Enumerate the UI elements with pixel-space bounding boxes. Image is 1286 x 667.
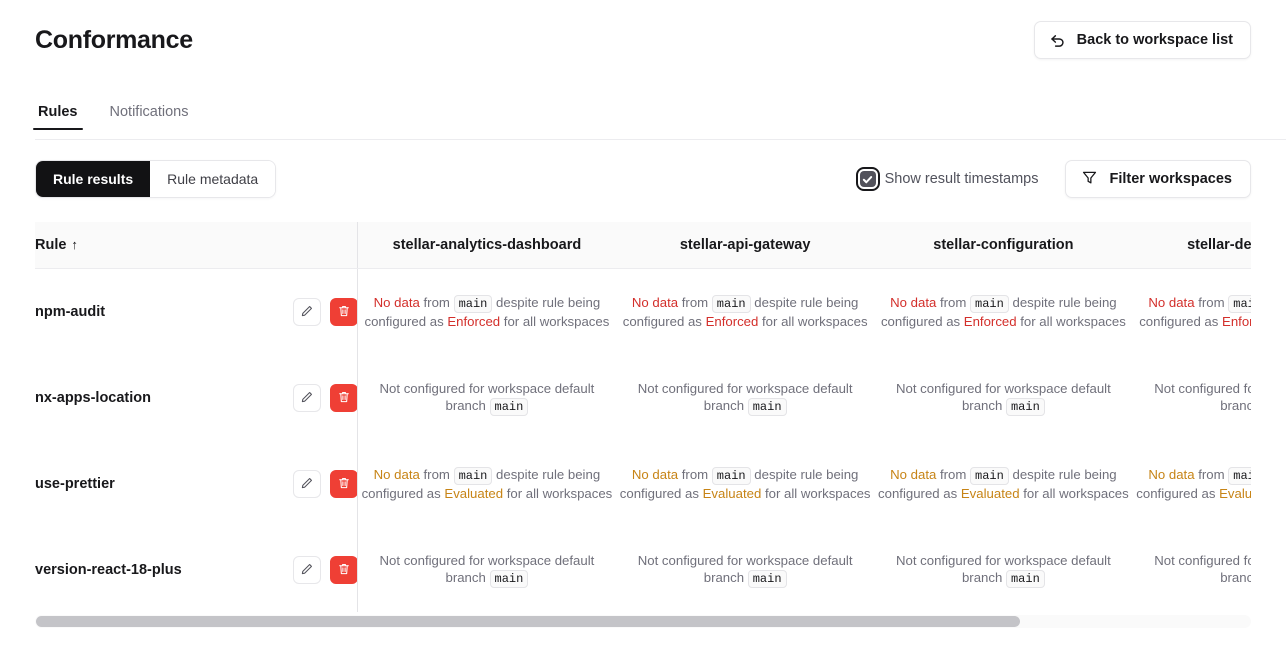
message-text: Not configured for workspace default bra… bbox=[896, 381, 1111, 414]
no-data-label: No data bbox=[374, 467, 420, 482]
branch-badge: main bbox=[490, 398, 529, 416]
column-header-rule[interactable]: Rule↑ bbox=[35, 222, 358, 269]
result-cell[interactable]: No data from main despite rule being con… bbox=[1133, 441, 1252, 527]
rule-row-actions bbox=[293, 470, 358, 498]
result-cell[interactable]: No data from main despite rule being con… bbox=[616, 269, 874, 355]
segment-rule-results[interactable]: Rule results bbox=[36, 161, 150, 197]
trash-icon bbox=[337, 476, 351, 493]
message-text: for all workspaces bbox=[1020, 486, 1129, 501]
result-cell[interactable]: No data from main despite rule being con… bbox=[1133, 269, 1252, 355]
result-cell[interactable]: No data from main despite rule being con… bbox=[358, 269, 616, 355]
table-header-row: Rule↑ stellar-analytics-dashboard stella… bbox=[35, 222, 1251, 269]
table-head: Rule↑ stellar-analytics-dashboard stella… bbox=[35, 222, 1251, 269]
rule-mode-label: Enforced bbox=[964, 314, 1017, 329]
branch-badge: main bbox=[712, 467, 751, 485]
page-header: Conformance Back to workspace list bbox=[0, 0, 1286, 80]
result-cell[interactable]: Not configured for workspace default bra… bbox=[1133, 355, 1252, 441]
not-configured-message: Not configured for workspace default bra… bbox=[380, 381, 595, 414]
message-text: Not configured for workspace default bra… bbox=[638, 381, 853, 414]
page-title: Conformance bbox=[35, 26, 193, 55]
main-tabs: Rules Notifications bbox=[35, 104, 1286, 140]
message-text: from bbox=[936, 295, 970, 310]
not-configured-message: Not configured for workspace default bra… bbox=[896, 381, 1111, 414]
rule-name-label: npm-audit bbox=[35, 304, 105, 320]
no-data-message: No data from main despite rule being con… bbox=[1136, 467, 1251, 502]
not-configured-message: Not configured for workspace default bra… bbox=[380, 553, 595, 586]
conformance-table-scroll-area[interactable]: Rule↑ stellar-analytics-dashboard stella… bbox=[35, 222, 1251, 612]
segment-rule-metadata[interactable]: Rule metadata bbox=[150, 161, 275, 197]
delete-rule-button[interactable] bbox=[330, 298, 358, 326]
result-cell[interactable]: Not configured for workspace default bra… bbox=[874, 355, 1132, 441]
rule-name-cell: nx-apps-location bbox=[35, 355, 358, 441]
sort-ascending-icon[interactable]: ↑ bbox=[71, 237, 78, 252]
branch-badge: main bbox=[712, 295, 751, 313]
rule-name-label: use-prettier bbox=[35, 476, 115, 492]
result-cell[interactable]: Not configured for workspace default bra… bbox=[616, 355, 874, 441]
edit-rule-button[interactable] bbox=[293, 384, 321, 412]
trash-icon bbox=[337, 390, 351, 407]
result-cell[interactable]: Not configured for workspace default bra… bbox=[616, 527, 874, 612]
tab-notifications[interactable]: Notifications bbox=[107, 104, 192, 130]
rule-name-label: version-react-18-plus bbox=[35, 562, 182, 578]
rule-mode-label: Evaluated bbox=[703, 486, 762, 501]
rule-cell-inner: npm-audit bbox=[35, 298, 358, 326]
table-row: npm-auditNo data from main despite rule … bbox=[35, 269, 1251, 355]
pencil-icon bbox=[300, 476, 314, 493]
not-configured-message: Not configured for workspace default bra… bbox=[638, 381, 853, 414]
result-cell[interactable]: No data from main despite rule being con… bbox=[874, 269, 1132, 355]
trash-icon bbox=[337, 304, 351, 321]
not-configured-message: Not configured for workspace default bra… bbox=[1154, 553, 1251, 586]
funnel-icon bbox=[1081, 169, 1098, 190]
message-text: from bbox=[678, 295, 712, 310]
no-data-label: No data bbox=[632, 295, 678, 310]
edit-rule-button[interactable] bbox=[293, 470, 321, 498]
filter-workspaces-label: Filter workspaces bbox=[1110, 171, 1233, 187]
show-result-timestamps-label: Show result timestamps bbox=[885, 171, 1039, 187]
rule-mode-label: Enforced bbox=[1222, 314, 1251, 329]
column-header-workspace-2[interactable]: stellar-configuration bbox=[874, 222, 1132, 269]
table-row: use-prettierNo data from main despite ru… bbox=[35, 441, 1251, 527]
message-text: for all workspaces bbox=[758, 314, 867, 329]
rule-name-label: nx-apps-location bbox=[35, 390, 151, 406]
pencil-icon bbox=[300, 562, 314, 579]
not-configured-message: Not configured for workspace default bra… bbox=[1154, 381, 1251, 414]
message-text: Not configured for workspace default bra… bbox=[380, 553, 595, 586]
filter-workspaces-button[interactable]: Filter workspaces bbox=[1065, 160, 1252, 198]
rule-mode-label: Enforced bbox=[706, 314, 759, 329]
message-text: for all workspaces bbox=[500, 314, 609, 329]
no-data-message: No data from main despite rule being con… bbox=[881, 295, 1126, 330]
no-data-label: No data bbox=[890, 295, 936, 310]
checkbox-checked-icon[interactable] bbox=[860, 171, 876, 187]
column-header-workspace-1[interactable]: stellar-api-gateway bbox=[616, 222, 874, 269]
show-result-timestamps-checkbox[interactable]: Show result timestamps bbox=[860, 171, 1039, 187]
table-row: nx-apps-locationNot configured for works… bbox=[35, 355, 1251, 441]
message-text: from bbox=[1195, 295, 1229, 310]
branch-badge: main bbox=[490, 570, 529, 588]
no-data-message: No data from main despite rule being con… bbox=[878, 467, 1129, 502]
not-configured-message: Not configured for workspace default bra… bbox=[638, 553, 853, 586]
branch-badge: main bbox=[1228, 295, 1251, 313]
table-body: npm-auditNo data from main despite rule … bbox=[35, 269, 1251, 612]
result-cell[interactable]: No data from main despite rule being con… bbox=[616, 441, 874, 527]
message-text: from bbox=[678, 467, 712, 482]
view-mode-segmented-control: Rule results Rule metadata bbox=[35, 160, 276, 198]
no-data-label: No data bbox=[1148, 295, 1194, 310]
rule-row-actions bbox=[293, 384, 358, 412]
no-data-message: No data from main despite rule being con… bbox=[362, 467, 613, 502]
message-text: for all workspaces bbox=[503, 486, 612, 501]
rule-name-cell: version-react-18-plus bbox=[35, 527, 358, 612]
pencil-icon bbox=[300, 304, 314, 321]
result-cell[interactable]: Not configured for workspace default bra… bbox=[358, 527, 616, 612]
rule-mode-label: Evaluated bbox=[1219, 486, 1251, 501]
no-data-label: No data bbox=[374, 295, 420, 310]
message-text: from bbox=[420, 295, 454, 310]
edit-rule-button[interactable] bbox=[293, 556, 321, 584]
branch-badge: main bbox=[970, 295, 1009, 313]
no-data-label: No data bbox=[1148, 467, 1194, 482]
column-header-workspace-3[interactable]: stellar-design-system bbox=[1133, 222, 1252, 269]
message-text: Not configured for workspace default bra… bbox=[1154, 553, 1251, 586]
delete-rule-button[interactable] bbox=[330, 384, 358, 412]
no-data-message: No data from main despite rule being con… bbox=[620, 467, 871, 502]
result-cell[interactable]: Not configured for workspace default bra… bbox=[1133, 527, 1252, 612]
conformance-page: Conformance Back to workspace list Rules… bbox=[0, 0, 1286, 667]
message-text: for all workspaces bbox=[1017, 314, 1126, 329]
rule-row-actions bbox=[293, 556, 358, 584]
tab-rules[interactable]: Rules bbox=[35, 104, 81, 130]
back-to-workspace-list-button[interactable]: Back to workspace list bbox=[1034, 21, 1251, 59]
no-data-label: No data bbox=[632, 467, 678, 482]
table-toolbar: Rule results Rule metadata Show result t… bbox=[35, 160, 1251, 198]
delete-rule-button[interactable] bbox=[330, 470, 358, 498]
rule-mode-label: Evaluated bbox=[961, 486, 1020, 501]
message-text: Not configured for workspace default bra… bbox=[896, 553, 1111, 586]
table-row: version-react-18-plusNot configured for … bbox=[35, 527, 1251, 612]
branch-badge: main bbox=[1006, 398, 1045, 416]
rule-mode-label: Evaluated bbox=[444, 486, 503, 501]
rule-row-actions bbox=[293, 298, 358, 326]
no-data-message: No data from main despite rule being con… bbox=[364, 295, 609, 330]
message-text: Not configured for workspace default bra… bbox=[380, 381, 595, 414]
rule-name-cell: use-prettier bbox=[35, 441, 358, 527]
message-text: from bbox=[936, 467, 970, 482]
result-cell[interactable]: No data from main despite rule being con… bbox=[358, 441, 616, 527]
edit-rule-button[interactable] bbox=[293, 298, 321, 326]
rule-name-cell: npm-audit bbox=[35, 269, 358, 355]
column-header-rule-label: Rule bbox=[35, 237, 66, 253]
rule-mode-label: Enforced bbox=[447, 314, 500, 329]
conformance-table: Rule↑ stellar-analytics-dashboard stella… bbox=[35, 222, 1251, 612]
message-text: Not configured for workspace default bra… bbox=[1154, 381, 1251, 414]
no-data-label: No data bbox=[890, 467, 936, 482]
result-cell[interactable]: Not configured for workspace default bra… bbox=[358, 355, 616, 441]
arrow-uturn-left-icon bbox=[1049, 32, 1066, 49]
pencil-icon bbox=[300, 390, 314, 407]
branch-badge: main bbox=[748, 570, 787, 588]
branch-badge: main bbox=[1228, 467, 1251, 485]
message-text: Not configured for workspace default bra… bbox=[638, 553, 853, 586]
horizontal-scrollbar-thumb[interactable] bbox=[36, 616, 1020, 627]
message-text: for all workspaces bbox=[761, 486, 870, 501]
no-data-message: No data from main despite rule being con… bbox=[623, 295, 868, 330]
column-header-workspace-0[interactable]: stellar-analytics-dashboard bbox=[358, 222, 616, 269]
message-text: from bbox=[1195, 467, 1229, 482]
toolbar-right-group: Show result timestamps Filter workspaces bbox=[860, 160, 1251, 198]
branch-badge: main bbox=[454, 467, 493, 485]
not-configured-message: Not configured for workspace default bra… bbox=[896, 553, 1111, 586]
rule-cell-inner: use-prettier bbox=[35, 470, 358, 498]
back-button-label: Back to workspace list bbox=[1077, 32, 1233, 48]
branch-badge: main bbox=[454, 295, 493, 313]
result-cell[interactable]: Not configured for workspace default bra… bbox=[874, 527, 1132, 612]
branch-badge: main bbox=[970, 467, 1009, 485]
no-data-message: No data from main despite rule being con… bbox=[1139, 295, 1251, 330]
rule-cell-inner: version-react-18-plus bbox=[35, 556, 358, 584]
branch-badge: main bbox=[1006, 570, 1045, 588]
branch-badge: main bbox=[748, 398, 787, 416]
trash-icon bbox=[337, 562, 351, 579]
rule-cell-inner: nx-apps-location bbox=[35, 384, 358, 412]
horizontal-scrollbar-track[interactable] bbox=[35, 615, 1251, 628]
message-text: from bbox=[420, 467, 454, 482]
delete-rule-button[interactable] bbox=[330, 556, 358, 584]
result-cell[interactable]: No data from main despite rule being con… bbox=[874, 441, 1132, 527]
